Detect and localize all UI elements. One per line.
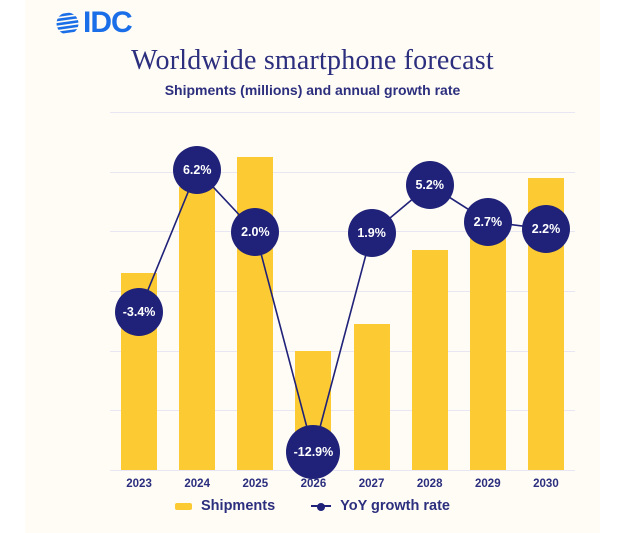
x-axis-tick-2025: 2025 [226, 478, 284, 490]
x-axis-tick-2028: 2028 [401, 478, 459, 490]
legend-label-shipments: Shipments [201, 498, 275, 514]
idc-globe-icon [55, 11, 80, 36]
chart-subtitle: Shipments (millions) and annual growth r… [25, 82, 600, 98]
x-axis-tick-2029: 2029 [459, 478, 517, 490]
x-axis-tick-2024: 2024 [168, 478, 226, 490]
legend-item-growth: YoY growth rate [311, 498, 450, 514]
legend-label-growth: YoY growth rate [340, 498, 450, 514]
growth-marker-2023[interactable]: -3.4% [115, 288, 163, 336]
x-axis-tick-2030: 2030 [517, 478, 575, 490]
x-axis-tick-2026: 2026 [284, 478, 342, 490]
idc-logo: IDC [55, 8, 132, 38]
growth-marker-2029[interactable]: 2.7% [464, 198, 512, 246]
x-axis-tick-2027: 2027 [343, 478, 401, 490]
line-dot-icon [311, 501, 331, 511]
growth-marker-2024[interactable]: 6.2% [173, 146, 221, 194]
growth-marker-2025[interactable]: 2.0% [231, 208, 279, 256]
chart-card: IDC Worldwide smartphone forecast Shipme… [25, 0, 600, 533]
growth-marker-2030[interactable]: 2.2% [522, 205, 570, 253]
legend: Shipments YoY growth rate [25, 498, 600, 514]
chart-title: Worldwide smartphone forecast [25, 45, 600, 77]
growth-marker-2028[interactable]: 5.2% [406, 161, 454, 209]
growth-marker-2027[interactable]: 1.9% [348, 209, 396, 257]
plot-area: 1300M1250M1200M1150M1100M1050M1000M -3.4… [110, 112, 575, 470]
bar-swatch-icon [175, 503, 192, 510]
legend-item-shipments: Shipments [175, 498, 275, 514]
gridline [110, 470, 575, 471]
x-axis-tick-2023: 2023 [110, 478, 168, 490]
idc-wordmark: IDC [83, 8, 132, 38]
